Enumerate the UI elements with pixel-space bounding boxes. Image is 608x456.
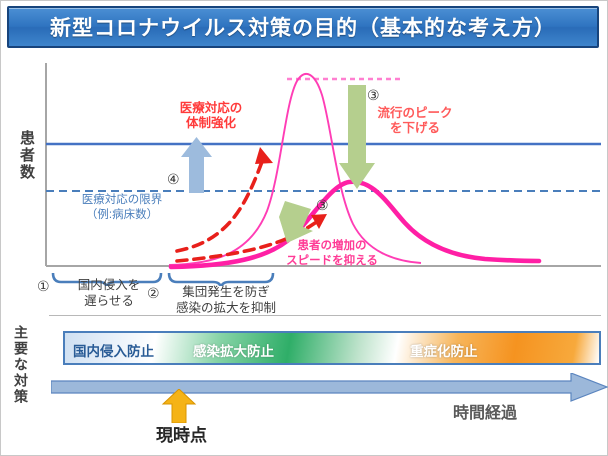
time-axis-arrow xyxy=(51,373,608,415)
annotation-lower-peak: 流行のピーク を下げる xyxy=(367,106,463,136)
page-title: 新型コロナウイルス対策の目的（基本的な考え方） xyxy=(50,12,556,42)
slide-canvas: 新型コロナウイルス対策の目的（基本的な考え方） 患者数 主要な対策 xyxy=(0,0,608,456)
current-time-label: 現時点 xyxy=(156,421,207,446)
countermeasure-phase-bar: 国内侵入防止 感染拡大防止 重症化防止 xyxy=(63,331,601,365)
now-arrow-shape xyxy=(163,389,195,423)
brace-label-phase-2-line1: 集団発生を防ぎ xyxy=(167,284,285,300)
slide-title-banner: 新型コロナウイルス対策の目的（基本的な考え方） xyxy=(7,6,599,48)
brace-label-phase-1: 国内侵入を 遅らせる xyxy=(57,277,161,309)
y-axis-label-measures: 主要な対策 xyxy=(9,319,29,411)
time-arrow-shape xyxy=(51,373,607,401)
marker-number-3-peak: ③ xyxy=(367,87,380,104)
marker-number-1: ① xyxy=(37,278,50,295)
annotation-speed-line2: スピードを抑える xyxy=(279,254,385,269)
marker-number-3-speed: ③ xyxy=(316,197,329,214)
current-time-marker-arrow xyxy=(161,389,197,423)
growth-arrow-flat-head xyxy=(311,214,327,229)
countermeasure-label-severity-prevention: 重症化防止 xyxy=(410,340,478,360)
countermeasure-label-border-control: 国内侵入防止 xyxy=(73,340,154,360)
brace-label-phase-1-line2: 遅らせる xyxy=(57,293,161,309)
annotation-peak-line1: 流行のピーク xyxy=(367,106,463,121)
annotation-strengthen-line1: 医療対応の xyxy=(161,101,261,116)
annotation-speed-line1: 患者の増加の xyxy=(279,239,385,254)
marker-number-2: ② xyxy=(147,285,160,302)
brace-label-phase-1-line1: 国内侵入を xyxy=(57,277,161,293)
annotation-strengthen-system: 医療対応の 体制強化 xyxy=(161,101,261,131)
annotation-peak-line2: を下げる xyxy=(367,121,463,136)
section-divider xyxy=(49,315,601,316)
annotation-limit-line1: 医療対応の限界 xyxy=(63,193,181,208)
raise-capacity-blue-arrow xyxy=(181,137,212,193)
time-axis-label: 時間経過 xyxy=(453,399,517,423)
brace-label-phase-2: 集団発生を防ぎ 感染の拡大を抑制 xyxy=(167,284,285,316)
annotation-strengthen-line2: 体制強化 xyxy=(161,116,261,131)
annotation-medical-limit: 医療対応の限界 （例:病床数） xyxy=(63,193,181,223)
growth-arrow-steep-head xyxy=(255,147,273,164)
annotation-limit-line2: （例:病床数） xyxy=(63,208,181,223)
marker-number-4: ④ xyxy=(167,171,180,188)
brace-label-phase-2-line2: 感染の拡大を抑制 xyxy=(167,300,285,316)
annotation-slow-increase: 患者の増加の スピードを抑える xyxy=(279,239,385,269)
countermeasure-label-spread-prevention: 感染拡大防止 xyxy=(193,340,274,360)
